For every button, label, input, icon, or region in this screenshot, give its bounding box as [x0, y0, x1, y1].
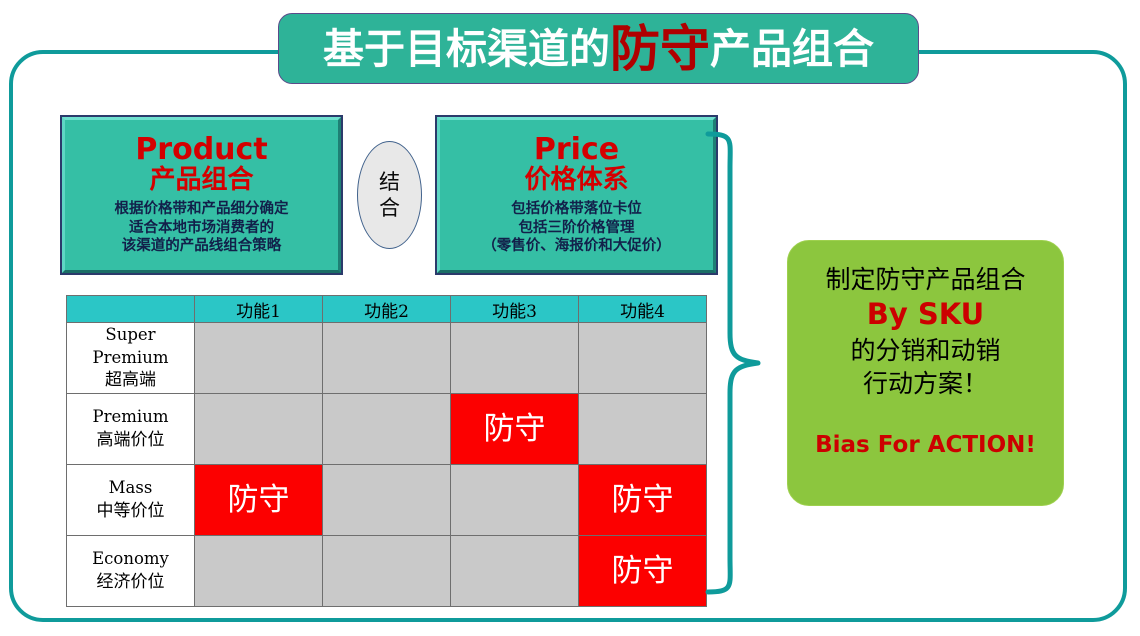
- matrix-cell-label: 防守: [484, 411, 546, 447]
- product-desc-line-1: 根据价格带和产品细分确定: [115, 200, 289, 219]
- title-suffix: 产品组合: [710, 25, 874, 73]
- page-title: 基于目标渠道的防守产品组合: [323, 24, 874, 74]
- product-title-cn: 产品组合: [149, 166, 253, 196]
- column-header-3: 功能3: [451, 296, 579, 323]
- row-label-cell: Super Premium超高端: [67, 323, 195, 394]
- price-desc-line-2: 包括三阶价格管理: [482, 219, 671, 238]
- table-row: Mass中等价位防守防守: [67, 465, 707, 536]
- callout-line-1: 制定防守产品组合: [825, 263, 1025, 296]
- matrix-cell[interactable]: [451, 465, 579, 536]
- table-row: Economy经济价位防守: [67, 536, 707, 607]
- matrix-cell-marked[interactable]: 防守: [195, 465, 323, 536]
- matrix-cell[interactable]: [323, 465, 451, 536]
- matrix-cell[interactable]: [195, 536, 323, 607]
- table-header-row: 功能1 功能2 功能3 功能4: [67, 296, 707, 323]
- row-label-en: Super Premium: [67, 324, 194, 369]
- title-prefix: 基于目标渠道的: [323, 25, 610, 73]
- combine-char-2: 合: [379, 195, 400, 221]
- table-row: Premium高端价位防守: [67, 394, 707, 465]
- product-desc: 根据价格带和产品细分确定 适合本地市场消费者的 该渠道的产品线组合策略: [115, 200, 289, 256]
- callout-by-sku: By SKU: [867, 296, 985, 334]
- matrix-cell[interactable]: [323, 323, 451, 394]
- matrix-cell[interactable]: [195, 394, 323, 465]
- matrix-cell-marked[interactable]: 防守: [451, 394, 579, 465]
- title-banner: 基于目标渠道的防守产品组合: [278, 13, 919, 84]
- callout-line-3: 的分销和动销: [850, 334, 1000, 367]
- row-label-cn: 超高端: [67, 369, 194, 392]
- row-label-cn: 中等价位: [67, 500, 194, 523]
- price-box: Price 价格体系 包括价格带落位卡位 包括三阶价格管理 （零售价、海报价和大…: [437, 117, 716, 273]
- price-title-cn: 价格体系: [524, 166, 628, 196]
- matrix-cell[interactable]: [579, 323, 707, 394]
- column-header-4: 功能4: [579, 296, 707, 323]
- matrix-cell[interactable]: [195, 323, 323, 394]
- curly-brace-icon: [700, 128, 770, 598]
- column-header-1: 功能1: [195, 296, 323, 323]
- callout-bias-for-action: Bias For ACTION!: [815, 432, 1036, 460]
- product-matrix-table: 功能1 功能2 功能3 功能4 Super Premium超高端Premium高…: [66, 295, 707, 607]
- matrix-cell[interactable]: [579, 394, 707, 465]
- matrix-cell[interactable]: [451, 323, 579, 394]
- column-header-2: 功能2: [323, 296, 451, 323]
- product-desc-line-2: 适合本地市场消费者的: [115, 219, 289, 238]
- action-callout-panel: 制定防守产品组合 By SKU 的分销和动销 行动方案！ Bias For AC…: [787, 240, 1064, 506]
- row-label-cn: 经济价位: [67, 571, 194, 594]
- matrix-cell[interactable]: [451, 536, 579, 607]
- price-title-en: Price: [534, 134, 619, 166]
- price-desc: 包括价格带落位卡位 包括三阶价格管理 （零售价、海报价和大促价）: [482, 200, 671, 256]
- table-body: Super Premium超高端Premium高端价位防守Mass中等价位防守防…: [67, 323, 707, 607]
- table-corner-cell: [67, 296, 195, 323]
- title-highlight: 防守: [610, 20, 710, 78]
- row-label-en: Premium: [67, 406, 194, 428]
- matrix-cell-label: 防守: [612, 482, 674, 518]
- product-desc-line-3: 该渠道的产品线组合策略: [115, 237, 289, 256]
- row-label-cell: Economy经济价位: [67, 536, 195, 607]
- matrix-cell-label: 防守: [228, 482, 290, 518]
- price-desc-line-3: （零售价、海报价和大促价）: [482, 237, 671, 256]
- product-box: Product 产品组合 根据价格带和产品细分确定 适合本地市场消费者的 该渠道…: [62, 117, 341, 273]
- matrix-cell[interactable]: [323, 394, 451, 465]
- matrix-cell-marked[interactable]: 防守: [579, 465, 707, 536]
- matrix-cell-marked[interactable]: 防守: [579, 536, 707, 607]
- price-desc-line-1: 包括价格带落位卡位: [482, 200, 671, 219]
- row-label-en: Mass: [67, 477, 194, 499]
- row-label-cell: Premium高端价位: [67, 394, 195, 465]
- matrix-cell-label: 防守: [612, 553, 674, 589]
- table-row: Super Premium超高端: [67, 323, 707, 394]
- combine-ellipse: 结 合: [357, 141, 422, 249]
- row-label-cell: Mass中等价位: [67, 465, 195, 536]
- matrix-cell[interactable]: [323, 536, 451, 607]
- product-title-en: Product: [135, 134, 267, 166]
- combine-char-1: 结: [379, 169, 400, 195]
- callout-line-4: 行动方案！: [863, 367, 988, 400]
- row-label-cn: 高端价位: [67, 429, 194, 452]
- row-label-en: Economy: [67, 548, 194, 570]
